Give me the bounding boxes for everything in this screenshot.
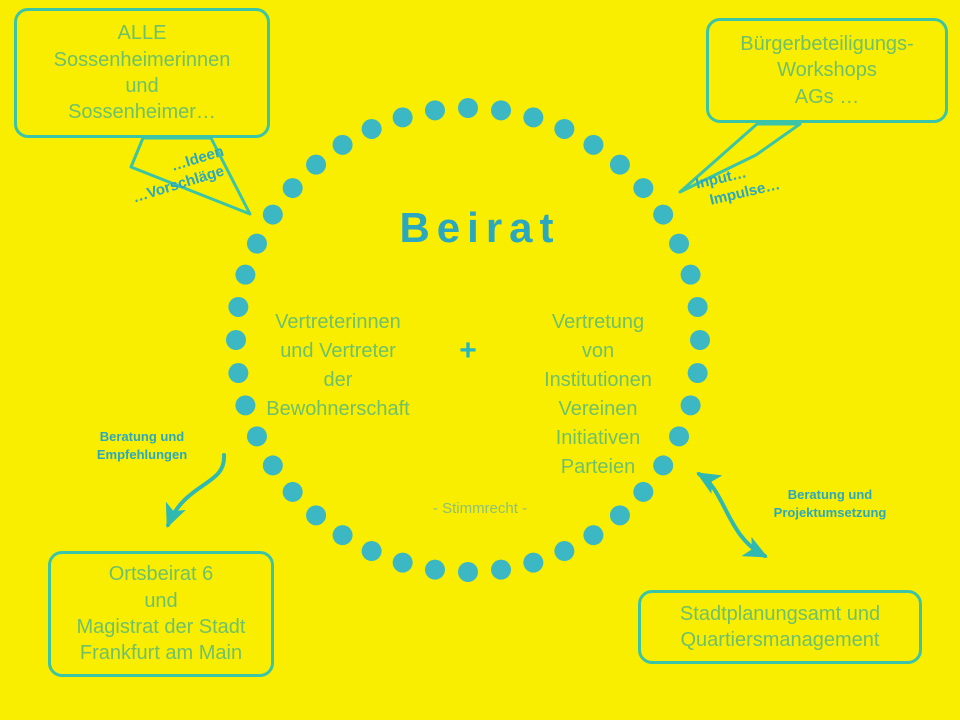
annotation-beratung-left-line-1: Beratung und xyxy=(100,429,185,444)
annotation-beratung-empfehlungen: Beratung und Empfehlungen xyxy=(72,428,212,463)
diagram-canvas: Beirat Vertreterinnen und Vertreter der … xyxy=(0,0,960,720)
annotation-beratung-right-line-1: Beratung und xyxy=(788,487,873,502)
annotation-beratung-right-line-2: Projektumsetzung xyxy=(774,505,887,520)
annotation-beratung-left-line-2: Empfehlungen xyxy=(97,447,187,462)
annotation-beratung-projektumsetzung: Beratung und Projektumsetzung xyxy=(740,486,920,521)
speech-bubble-tails xyxy=(0,0,960,720)
